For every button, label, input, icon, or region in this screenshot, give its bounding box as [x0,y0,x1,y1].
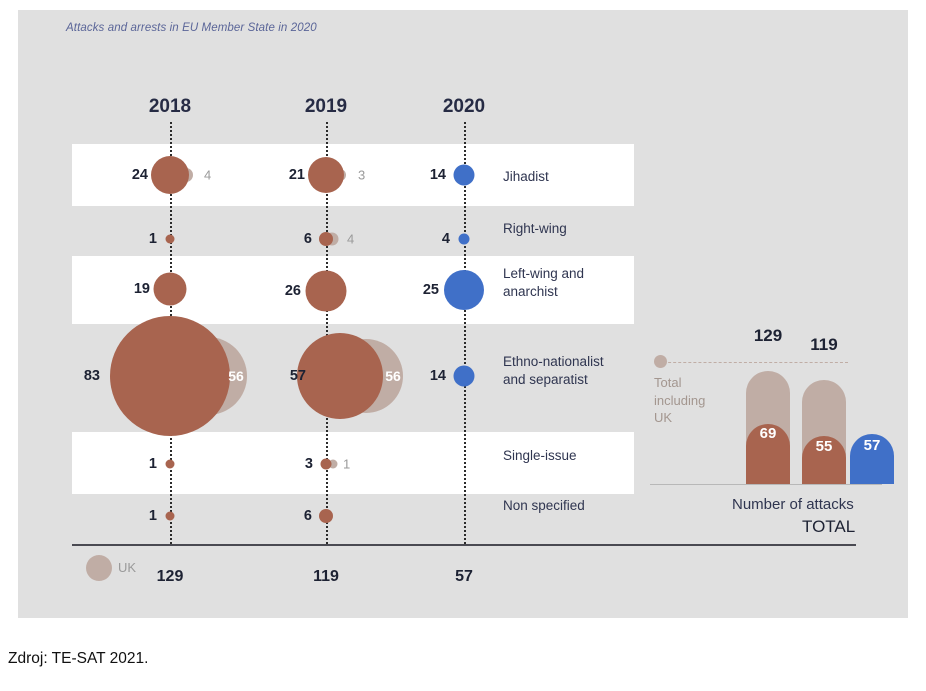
chart-title: Attacks and arrests in EU Member State i… [66,22,317,34]
row-label-right-wing: Right-wing [503,220,567,238]
eu-value-2019-jihadist: 21 [289,167,305,183]
eu-value-2018-single-issue: 1 [149,456,157,472]
uk-value-2018-ethno: 56 [228,368,244,384]
eu-bubble-2020-ethno [454,366,475,387]
eu-value-2018-right-wing: 1 [149,231,157,247]
row-label-left-wing: Left-wing and anarchist [503,265,584,300]
year-header-2018: 2018 [149,96,191,118]
eu-value-2019-ethno: 57 [290,368,306,384]
column-total-2018: 129 [157,568,184,586]
year-header-2019: 2019 [305,96,347,118]
row-label-jihadist: Jihadist [503,168,549,186]
column-total-2020: 57 [455,568,473,586]
bar-total-label-2019: 119 [810,335,837,355]
bar-total-label-2018: 129 [754,326,782,346]
column-total-2019: 119 [313,568,339,586]
eu-bubble-2018-left-wing [154,273,187,306]
source-caption: Zdroj: TE-SAT 2021. [8,650,148,668]
eu-value-2020-jihadist: 14 [430,167,446,183]
eu-bubble-2018-non-specified [166,512,175,521]
eu-bubble-2018-right-wing [166,235,175,244]
eu-value-2020-left-wing: 25 [423,282,439,298]
uk-legend-bubble-icon [86,555,112,581]
eu-bubble-2020-jihadist [454,165,475,186]
bar-chart-axis-total: TOTAL [802,517,855,537]
eu-value-2018-ethno: 83 [84,368,100,384]
chart-canvas: Attacks and arrests in EU Member State i… [18,10,908,618]
row-label-single-issue: Single-issue [503,447,577,465]
row-label-ethno-nationalist: Ethno-nationalist and separatist [503,353,604,388]
uk-value-2019-ethno: 56 [385,368,401,384]
bar-eu-label-2018: 69 [760,425,777,442]
eu-bubble-2018-jihadist [151,156,189,194]
uk-total-marker-icon [654,355,667,368]
eu-bubble-2020-right-wing [459,234,470,245]
uk-legend-label: UK [118,560,136,575]
bar-chart-axis-title: Number of attacks [732,496,854,513]
side-bar-chart: Total including UK 129 69 119 55 57 Numb… [650,310,890,545]
eu-bubble-2019-non-specified [319,509,333,523]
eu-bubble-2018-single-issue [166,460,175,469]
infographic-root: Attacks and arrests in EU Member State i… [0,0,926,691]
eu-bubble-2020-left-wing [444,270,484,310]
bar-chart-note: Total including UK [654,374,705,427]
year-header-2020: 2020 [443,96,485,118]
eu-value-2018-non-specified: 1 [149,508,157,524]
eu-value-2019-right-wing: 6 [304,231,312,247]
eu-value-2019-single-issue: 3 [305,456,313,472]
bar-eu-label-2019: 55 [816,438,833,455]
bar-chart-axis-line [650,484,882,485]
eu-bubble-2019-left-wing [306,271,347,312]
eu-value-2018-left-wing: 19 [134,281,150,297]
uk-value-2019-single-issue: 1 [343,457,350,472]
eu-value-2019-left-wing: 26 [285,283,301,299]
eu-value-2019-non-specified: 6 [304,508,312,524]
uk-value-2018-jihadist: 4 [204,168,211,183]
eu-value-2020-right-wing: 4 [442,231,450,247]
eu-value-2018-jihadist: 24 [132,167,148,183]
uk-total-dashed-line [658,362,848,363]
eu-bubble-2018-ethno [110,316,230,436]
row-label-non-specified: Non specified [503,497,585,515]
eu-bubble-2019-right-wing [319,232,333,246]
eu-bubble-2019-ethno [297,333,383,419]
bar-eu-label-2020: 57 [864,437,881,454]
uk-value-2019-jihadist: 3 [358,168,365,183]
eu-bubble-2019-jihadist [308,157,344,193]
eu-value-2020-ethno: 14 [430,368,446,384]
uk-value-2019-right-wing: 4 [347,232,354,247]
eu-bubble-2019-single-issue [321,459,332,470]
